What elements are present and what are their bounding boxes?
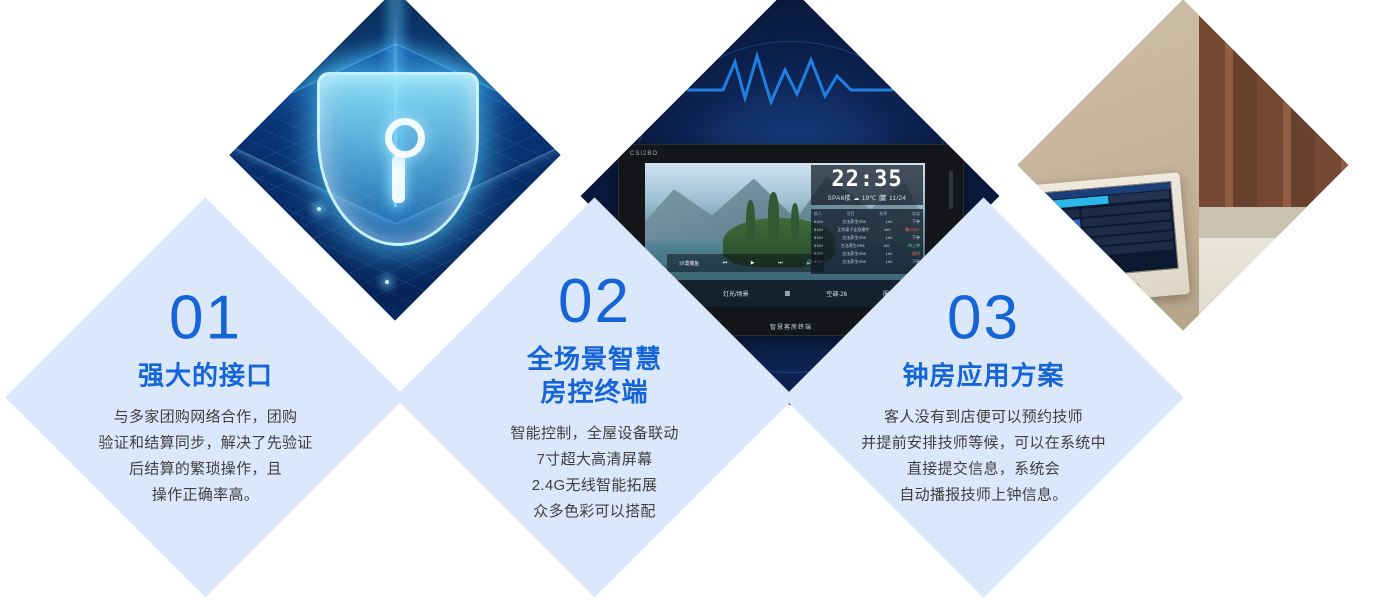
- cell-tech: 162: [886, 259, 893, 265]
- card-3-title-line-1: 钟房应用方案: [819, 359, 1149, 392]
- hard-button-6[interactable]: [1119, 283, 1140, 296]
- menu-left-1[interactable]: [1018, 219, 1081, 235]
- cell-room: 8119: [814, 235, 823, 241]
- col-header-status: 状态: [912, 211, 920, 217]
- cell-tech: 162: [886, 235, 893, 241]
- card-2-desc-line-3: 2.4G无线智能拓展: [430, 473, 760, 499]
- card-1-desc-line-1: 与多家团购网络合作，团购: [40, 404, 370, 430]
- card-2-title-line-1: 全场景智慧: [430, 343, 760, 376]
- tablet-side-strip: [949, 171, 953, 209]
- card-3-desc-line-1: 客人没有到店便可以预约技师: [819, 404, 1149, 430]
- card-3-desc-line-4: 自动播报技师上钟信息。: [819, 482, 1149, 508]
- dock-item-lighting[interactable]: 灯光/场景: [723, 289, 749, 298]
- card-1-number: 01: [40, 287, 370, 349]
- card-3-title: 钟房应用方案: [819, 359, 1149, 392]
- service-list-header: 房人 项目 技师 状态: [814, 211, 920, 217]
- table-row: 8119 古法养生SPA 162 下钟: [814, 259, 920, 265]
- heartbeat-wave-icon: [685, 50, 895, 112]
- tablet-brand-label: CSI2BO: [630, 151, 658, 157]
- card-2-desc-line-2: 7寸超大高清屏幕: [430, 447, 760, 473]
- next-icon[interactable]: ⏭: [778, 260, 783, 266]
- infographic-canvas: CSI2BO 22:35: [0, 0, 1381, 603]
- cell-room: 8119: [814, 243, 823, 249]
- card-2-description: 智能控制，全屋设备联动 7寸超大高清屏幕 2.4G无线智能拓展 众多色彩可以搭配: [430, 421, 760, 525]
- volume-icon[interactable]: 🔊: [806, 260, 812, 266]
- hard-button-5[interactable]: [1094, 285, 1115, 298]
- feature-card-3-content: 03 钟房应用方案 客人没有到店便可以预约技师 并提前安排技师等候，可以在系统中…: [819, 287, 1149, 508]
- apps-grid-icon[interactable]: ▩: [785, 290, 791, 297]
- card-1-desc-line-3: 后结算的繁琐操作，且: [40, 456, 370, 482]
- col-header-room: 房人: [814, 211, 822, 217]
- table-row: 8119 正宗泰子全身理疗 162 剩11'50": [814, 227, 920, 233]
- service-list-widget[interactable]: 房人 项目 技师 状态 8119 古法养生SPA 162 下钟: [811, 209, 923, 274]
- card-2-title: 全场景智慧 房控终端: [430, 343, 760, 409]
- cell-status: 超时: [912, 251, 920, 257]
- card-1-title-line-1: 强大的接口: [40, 359, 370, 392]
- card-1-desc-line-2: 验证和结算同步，解决了先验证: [40, 430, 370, 456]
- table-row: 8119 古法养生SPA 162 下钟: [814, 235, 920, 241]
- col-header-tech: 技师: [879, 211, 887, 217]
- card-1-title: 强大的接口: [40, 359, 370, 392]
- cell-item: 古法养生SPA: [842, 259, 866, 265]
- cell-tech: 162: [883, 243, 890, 249]
- card-3-desc-line-3: 直接提交信息，系统会: [819, 456, 1149, 482]
- card-2-desc-line-1: 智能控制，全屋设备联动: [430, 421, 760, 447]
- cell-status: 剩11'50": [905, 227, 920, 233]
- cell-item: 古法养生SPA: [841, 243, 865, 249]
- table-row: 8119 古法养生SPA 162 待上钟: [814, 243, 920, 249]
- dock-item-aircon[interactable]: 空调·26: [826, 289, 847, 298]
- cell-tech: 162: [884, 227, 891, 233]
- clock-widget: 22:35 SPA6楼 ☁ 19℃ 🗓 11/24: [811, 165, 923, 205]
- table-row: 8119 古法养生SPA 162 下钟: [814, 219, 920, 225]
- cell-status: 下钟: [912, 235, 920, 241]
- card-1-description: 与多家团购网络合作，团购 验证和结算同步，解决了先验证 后结算的繁琐操作，且 操…: [40, 404, 370, 508]
- tab-room-service[interactable]: [1018, 200, 1049, 213]
- cell-status: 下钟: [912, 219, 920, 225]
- media-player-bar[interactable]: 沙漠捕鱼 ⏮ ▶ ⏭ 🔊: [667, 254, 824, 273]
- card-2-title-line-2: 房控终端: [430, 376, 760, 409]
- feature-card-1-content: 01 强大的接口 与多家团购网络合作，团购 验证和结算同步，解决了先验证 后结算…: [40, 287, 370, 508]
- clock-subinfo: SPA6楼 ☁ 19℃ 🗓 11/24: [828, 193, 907, 202]
- col-header-item: 项目: [847, 211, 855, 217]
- media-title: 沙漠捕鱼: [679, 260, 699, 267]
- cell-item: 古法养生SPA: [842, 235, 866, 241]
- cell-item: 正宗泰子全身理疗: [837, 227, 869, 233]
- cell-item: 古法养生SPA: [842, 251, 866, 257]
- prev-icon[interactable]: ⏮: [723, 260, 728, 266]
- cell-tech: 162: [886, 219, 893, 225]
- cell-item: 古法养生SPA: [842, 219, 866, 225]
- menu-left-0[interactable]: [1018, 209, 1080, 225]
- cell-room: 8119: [814, 227, 823, 233]
- play-icon[interactable]: ▶: [751, 260, 755, 266]
- card-3-desc-line-2: 并提前安排技师等候，可以在系统中: [819, 430, 1149, 456]
- panel-menu-right[interactable]: [1081, 201, 1174, 257]
- card-2-desc-line-4: 众多色彩可以搭配: [430, 499, 760, 525]
- table-row: 8119 古法养生SPA 162 超时: [814, 251, 920, 257]
- card-3-description: 客人没有到店便可以预约技师 并提前安排技师等候，可以在系统中 直接提交信息，系统…: [819, 404, 1149, 508]
- clock-time: 22:35: [831, 169, 902, 191]
- card-1-desc-line-4: 操作正确率高。: [40, 482, 370, 508]
- cell-status: 待上钟: [908, 243, 920, 249]
- cell-tech: 162: [886, 251, 893, 257]
- tablet-screen[interactable]: 22:35 SPA6楼 ☁ 19℃ 🗓 11/24 房人 项目 技师 状态: [645, 163, 925, 307]
- cell-room: 8119: [814, 219, 823, 225]
